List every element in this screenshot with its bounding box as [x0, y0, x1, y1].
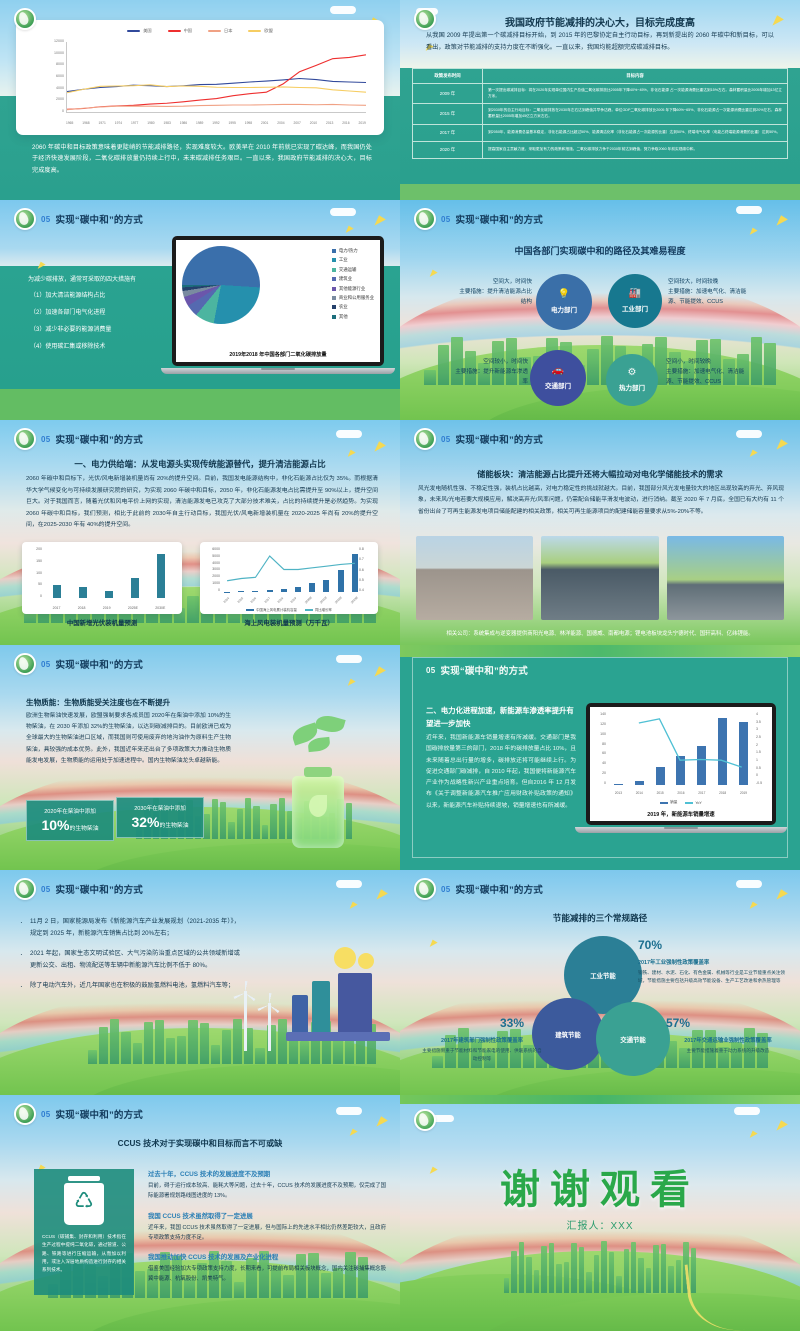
list-item: 2021 年起，国家生态文明试验区、大气污染防治重点区域的公共领域新增或更新公交… [20, 948, 240, 973]
building-shape [177, 1036, 186, 1063]
slide-header: 05 实现“碳中和”的方式 [414, 878, 543, 900]
deck-logo-icon [14, 1103, 36, 1125]
factory-icon: 🏭 [629, 289, 641, 299]
biofuel-jar-icon [292, 776, 344, 848]
slide-thumbnail-11[interactable]: 05 实现“碳中和”的方式 CCUS 技术对于实现碳中和目标而言不可或缺 CCU… [0, 1095, 400, 1331]
measures-lead: 为减少碳排放，通常可采取的四大措施有 [28, 274, 168, 283]
y-tick: 0 [40, 594, 42, 598]
slide-header [14, 8, 36, 30]
paper-plane-icon [373, 1114, 388, 1126]
pct-body-industry: 钢铁、建材、水泥、石化、有色金属、机械等行业是工业节能重点关注领域，节能措施主要… [638, 969, 786, 985]
legend-swatch [246, 609, 254, 611]
gear-icon: ⚙ [628, 368, 637, 378]
deck-logo-icon [414, 878, 436, 900]
cloud-shape [736, 206, 762, 214]
y-tick: 100 [36, 571, 42, 575]
x-tick: 2030E [155, 606, 165, 610]
cloud-shape [734, 1107, 760, 1115]
x-tick: 2001 [261, 121, 268, 125]
energy-glow-icon [334, 947, 356, 969]
x-tick: 2017 [698, 791, 705, 795]
slide-paragraph: 2060 年碳中和目标政策意味着更陡峭的节能减排路径，实现难度较大。欧美早在 2… [32, 142, 372, 176]
building-shape [638, 1258, 643, 1293]
x-tick: 2015 [657, 791, 664, 795]
section-number: 05 [41, 660, 51, 669]
city-skyline [504, 1241, 696, 1293]
pie-chart-panel: 电力/热力工业交通运输建筑业其他能源行业商业和公用服务业农业其他 2019年20… [176, 240, 380, 362]
x-tick: 2023E [350, 596, 359, 605]
building-shape [587, 349, 599, 385]
building-shape [609, 1252, 614, 1293]
measure-item: （3）减少非必要的能源消费量 [28, 324, 168, 333]
paper-plane-icon [347, 1127, 357, 1136]
legend-label: 其他能源行业 [339, 286, 365, 292]
list-item: 除了电动汽车外，近几年国家也在积极的鼓励氢燃料电池，氢燃料汽车等； [20, 980, 240, 992]
section-number: 05 [41, 1110, 51, 1119]
x-tick: 2016 [250, 596, 258, 604]
offshore-wind-chart-card: 6000500040003000200010000 0.80.70.60.50.… [200, 542, 378, 614]
paper-plane-icon [773, 213, 788, 225]
node-label: 交通部门 [545, 380, 571, 390]
x-axis-labels: 1965196819711974197719801983198619891992… [66, 121, 366, 125]
note-industry: 空间较大，时间较晚 主要措施：加速电气化、清洁能源、节能提效、CCUS [668, 278, 756, 307]
x-axis-labels: 2013201420152016201720182019 [608, 791, 754, 795]
solar-capacity-chart-card: 200150100500 2017201820192025E2030E [22, 542, 182, 614]
y-tick: 120 [600, 722, 606, 726]
chart-caption-left: 中国新增光伏装机量预测 [22, 618, 182, 627]
x-tick: 2018 [78, 606, 86, 610]
battery-container-farm-photo [416, 536, 533, 620]
cell-year: 2020 年 [413, 141, 483, 158]
x-tick: 2010 [310, 121, 317, 125]
legend-label: YoY [695, 801, 701, 805]
building-shape [631, 1242, 636, 1293]
stat-card-2020: 2020年在柴油中添加 10%的生物柴油 [26, 800, 114, 841]
slide-thumbnail-4[interactable]: 05 实现“碳中和”的方式 中国各部门实现碳中和的路径及其难易程度 💡 电力部门… [400, 200, 800, 420]
building-shape [200, 1023, 209, 1063]
slide-title: 中国各部门实现碳中和的路径及其难易程度 [400, 244, 800, 257]
section-number: 05 [441, 885, 451, 894]
y2-tick: -0.5 [756, 781, 762, 785]
power-plant-icon [292, 995, 308, 1033]
energy-plant-illustration [230, 941, 390, 1051]
cell-year: 2015 年 [413, 104, 483, 124]
legend-item: 同比增长率 [305, 607, 332, 612]
slide-thumbnail-6[interactable]: 05 实现“碳中和”的方式 储能板块：清洁能源占比提升还将大幅拉动对电化学储能技… [400, 420, 800, 645]
section-body: 借鉴美国经验加大专项政策支持力度，长期来看，可提前布局相关板块概念，国内关注碳捕… [148, 1264, 386, 1285]
section-title: 实现“碳中和”的方式 [56, 432, 144, 446]
line-series [227, 556, 355, 581]
section-body: 目前，碍于运行成本较高、能耗大等问题，过去十年，CCUS 技术的发展进度不及预期… [148, 1181, 386, 1202]
pct-transport: 57% [666, 1016, 690, 1030]
paper-plane-icon [343, 224, 353, 233]
related-companies-note: 相关公司：系统集成与逆变器提供商阳光电源、林洋能源、国德威、南都电源；锂电池板块… [408, 629, 792, 637]
note-power: 空间大，时间快 主要措施：提升清洁能源占比结构 [458, 278, 532, 307]
x-tick: 1968 [82, 121, 89, 125]
x-tick: 2017 [53, 606, 61, 610]
deck-logo-icon [414, 208, 436, 230]
slide-header [414, 8, 436, 30]
x-tick: 2015 [236, 596, 244, 604]
x-tick: 1983 [164, 121, 171, 125]
y-axis-labels: 200150100500 [25, 547, 42, 598]
laptop-mockup: 电力/热力工业交通运输建筑业其他能源行业商业和公用服务业农业其他 2019年20… [172, 236, 384, 374]
biomass-illustration [258, 704, 378, 854]
laptop-base [575, 827, 787, 833]
building-shape [586, 1272, 591, 1294]
cell-content: 到2030年的自主行动目标：二氧化碳排放在2030年左右达到峰值并早争达峰。单位… [483, 104, 788, 124]
y2-tick: 0 [756, 773, 758, 777]
y-tick: 40 [602, 761, 606, 765]
node-label: 电力部门 [551, 304, 577, 314]
photo-row [416, 536, 784, 620]
y-tick: 6000 [212, 547, 220, 551]
paper-plane-icon [427, 268, 437, 277]
cell-year: 2017 年 [413, 124, 483, 141]
cell-content: 提高国家自主贡献力度，采取更加有力的政策和措施。二氧化碳排放力争于2030年前达… [483, 141, 788, 158]
blob-transport[interactable]: 交通节能 [596, 1002, 670, 1076]
y-tick: 200 [36, 547, 42, 551]
measure-item: （2）加速各部门电气化进程 [28, 307, 168, 316]
pct-head-building: 2017年建筑部门强制性政策覆盖率 [420, 1036, 544, 1044]
legend-swatch [332, 268, 336, 272]
y-tick: 2000 [212, 574, 220, 578]
legend-item: 农业 [332, 304, 374, 310]
measure-item: （4）使用碳汇集或移除技术 [28, 341, 168, 350]
thanks-title: 谢谢观看 [400, 1157, 800, 1215]
legend-item: 其他能源行业 [332, 286, 374, 292]
slide-header: 05 实现“碳中和”的方式 [14, 208, 143, 230]
cloud-shape [336, 880, 362, 888]
legend-swatch [660, 802, 668, 804]
x-tick: 2014 [636, 791, 643, 795]
building-shape [541, 1246, 546, 1293]
slide-lead-text: 从我国 2009 年提出第一个碳减排目标开始，到 2015 年的巴黎协定自主行动… [426, 30, 774, 54]
slide-thumbnail-2[interactable]: 我国政府节能减排的决心大，目标完成度高 从我国 2009 年提出第一个碳减排目标… [400, 0, 800, 200]
section-heading: 过去十年，CCUS 技术的发展进度不及预期 [148, 1169, 386, 1178]
legend-item: 交通运输 [332, 267, 374, 273]
note-body: 主要措施：提升新能源车渗透率 [452, 368, 528, 388]
ccus-sections: 过去十年，CCUS 技术的发展进度不及预期目前，碍于运行成本较高、能耗大等问题，… [148, 1169, 386, 1294]
bar [79, 587, 87, 598]
cell-year: 2009 年 [413, 84, 483, 104]
building-shape [121, 1032, 130, 1064]
x-tick: 2016 [342, 121, 349, 125]
emissions-line-chart: 美国 中国 日本 欧盟 1200010000 80006000 40002000… [26, 27, 374, 129]
chart-legend: 美国 中国 日本 欧盟 [26, 27, 374, 34]
building-shape [653, 1245, 658, 1293]
note-head: 空间较大，时间较晚 [668, 278, 756, 288]
x-tick: 2019 [103, 606, 111, 610]
deck-logo-icon [14, 428, 36, 450]
legend-swatch [332, 315, 336, 319]
x-tick: 2013 [615, 791, 622, 795]
slide-title: 二、电力化进程加速，新能源车渗透率提升有望进一步加快 [426, 705, 576, 731]
slide-header: 05 实现“碳中和”的方式 [426, 663, 528, 677]
line-series [67, 85, 366, 93]
cloud-shape [336, 1107, 362, 1115]
y-axis-labels: 140120100806040200 [592, 712, 606, 785]
x-tick: 2021E [319, 596, 328, 605]
x-tick: 2019 [290, 596, 298, 604]
legend-label: 工业 [339, 257, 348, 263]
building-shape [237, 809, 243, 839]
power-plant-icon [338, 973, 372, 1033]
solar-wind-hybrid-photo [667, 536, 784, 620]
deck-logo-icon [414, 428, 436, 450]
cloud-shape [330, 6, 356, 14]
building-shape [731, 1042, 742, 1068]
stat-caption: 2030年在柴油中添加 [123, 804, 197, 812]
building-shape [228, 822, 234, 839]
legend-item: 中国 [168, 28, 192, 34]
paper-plane-icon [373, 887, 388, 899]
bar [105, 591, 113, 598]
paper-plane-icon [747, 226, 757, 235]
top-decoration-bar [400, 645, 800, 657]
y2-tick: 3.5 [756, 720, 761, 724]
paper-plane-icon [773, 437, 788, 449]
presenter-line: 汇报人：XXX [400, 1217, 800, 1232]
y-tick: 4000 [212, 561, 220, 565]
paper-plane-icon [747, 1129, 757, 1138]
slide-thumbnail-3[interactable]: 05 实现“碳中和”的方式 为减少碳排放，通常可采取的四大措施有 （1）加大清洁… [0, 200, 400, 420]
y-tick: 60 [602, 751, 606, 755]
cloud-shape [336, 430, 362, 438]
building-shape [594, 1255, 599, 1293]
building-shape [504, 1278, 509, 1294]
slide-thumbnail-7[interactable]: 05 实现“碳中和”的方式 生物质能：生物质能受关注度也在不断提升 欧洲生物柴油… [0, 645, 400, 870]
x-tick: 2025E [128, 606, 138, 610]
node-transport-sector[interactable]: 🚗 交通部门 [530, 350, 586, 406]
slide-header: 05 实现“碳中和”的方式 [14, 428, 143, 450]
deck-logo-icon [14, 653, 36, 675]
slide-title: 一、电力供给端：从发电源头实现传统能源替代，提升清洁能源占比 [0, 458, 400, 470]
x-tick: 2004 [277, 121, 284, 125]
building-shape [564, 1262, 569, 1293]
legend-label: 农业 [339, 304, 348, 310]
legend-item: YoY [685, 800, 701, 805]
section-body: 近年来，我国 CCUS 技术虽然取得了一定进展，但与国际上的先进水平相比仍然差距… [148, 1223, 386, 1244]
measure-item: （1）加大清洁能源结构占比 [28, 290, 168, 299]
slide-thumbnail-1[interactable]: 美国 中国 日本 欧盟 1200010000 80006000 40002000… [0, 0, 400, 200]
x-tick: 2018 [276, 596, 284, 604]
slide-body: 风光发电随机性强、不稳定性强，装机占比越高，对电力稳定性的挑战就越大。目前，我国… [418, 484, 784, 518]
legend-item: 工业 [332, 257, 374, 263]
legend-item: 建筑业 [332, 276, 374, 282]
chart-caption-right: 海上风电装机量预测（万千瓦） [200, 618, 378, 627]
paper-plane-icon [345, 677, 355, 686]
slide-thumbnail-5[interactable]: 05 实现“碳中和”的方式 一、电力供给端：从发电源头实现传统能源替代，提升清洁… [0, 420, 400, 645]
cloud-shape [330, 208, 356, 216]
section-number: 05 [41, 435, 51, 444]
energy-storage-building-photo [541, 536, 658, 620]
paper-plane-icon [371, 213, 386, 225]
legend-item: 美国 [127, 28, 151, 34]
paper-plane-icon [347, 900, 357, 909]
slide-thumbnail-9[interactable]: 05 实现“碳中和”的方式 11月 2 日，国家能源局发布《新能源汽车产业发展规… [0, 870, 400, 1095]
blob-label: 工业节能 [590, 971, 616, 980]
pct-industry: 70% [638, 938, 662, 952]
line-series [67, 79, 366, 92]
x-tick: 2014 [223, 596, 231, 604]
x-tick: 1995 [229, 121, 236, 125]
bulb-icon: 💡 [558, 290, 570, 300]
section-title: 实现“碳中和”的方式 [456, 882, 544, 896]
legend-label: 同比增长率 [315, 607, 332, 612]
blob-label: 交通节能 [620, 1035, 646, 1044]
bar-series [44, 550, 174, 598]
x-tick: 1974 [115, 121, 122, 125]
deck-logo-icon [14, 208, 36, 230]
slide-header: 05 实现“碳中和”的方式 [414, 428, 543, 450]
y-tick: 5000 [212, 554, 220, 558]
bar [635, 781, 644, 785]
pct-body-transport: 主要节能措施着重于动力系统的升级改造 [664, 1047, 792, 1055]
building-shape [549, 1243, 554, 1293]
cloud-shape [736, 880, 762, 888]
slide-header: 05 实现“碳中和”的方式 [14, 878, 143, 900]
section-title: 实现“碳中和”的方式 [441, 663, 529, 677]
y-axis-labels: 6000500040003000200010000 [203, 547, 220, 592]
legend-item: 日本 [208, 28, 232, 34]
section-title: 实现“碳中和”的方式 [456, 212, 544, 226]
table-row: 2017 年到2050年，能源消费总量基本稳定，非化石能源占比超过50%、能源清… [413, 124, 788, 141]
section-title: 实现“碳中和”的方式 [56, 882, 144, 896]
building-shape [556, 1264, 561, 1293]
leaf-icon [309, 795, 327, 817]
energy-glow-icon [358, 953, 374, 969]
column-header-content: 目标内容 [483, 69, 788, 84]
wind-turbine-icon [244, 991, 247, 1051]
note-body: 主要措施：加速电气化、清洁能源、节能提效、CCUS [668, 288, 756, 308]
node-heat-sector[interactable]: ⚙ 热力部门 [606, 354, 658, 406]
legend-swatch [685, 802, 693, 804]
slide-thumbnail-8[interactable]: 05 实现“碳中和”的方式 二、电力化进程加速，新能源车渗透率提升有望进一步加快… [400, 645, 800, 870]
y-tick: 3000 [212, 567, 220, 571]
x-tick: 1965 [66, 121, 73, 125]
legend-label: 销量 [670, 800, 677, 805]
slide-header: 05 实现“碳中和”的方式 [414, 208, 543, 230]
slide-thumbnail-grid: 美国 中国 日本 欧盟 1200010000 80006000 40002000… [0, 0, 800, 1331]
legend-item: 电力/热力 [332, 248, 374, 254]
note-heat: 空间小，时间较晚 主要措施：加速电气化、清洁能源、节能提效、CCUS [666, 358, 754, 387]
y2-tick: 4 [756, 712, 758, 716]
stat-value: 10%的生物柴油 [33, 817, 107, 833]
y-axis-labels: 1200010000 80006000 40002000 0 [40, 39, 64, 113]
y2-tick: 1 [756, 758, 758, 762]
note-head: 空间小，时间较晚 [666, 358, 754, 368]
section-number: 05 [441, 215, 451, 224]
policy-bullet-list: 11月 2 日，国家能源局发布《新能源汽车产业发展规划（2021-2035 年）… [20, 916, 240, 999]
x-tick: 1998 [245, 121, 252, 125]
x-axis-labels: 2014201520162017201820192020E2021E2022E2… [220, 598, 362, 602]
cell-content: 到2050年，能源消费总量基本稳定，非化石能源占比超过50%、能源清洁化率（非化… [483, 124, 788, 141]
building-shape [526, 1257, 531, 1294]
measures-list: 为减少碳排放，通常可采取的四大措施有 （1）加大清洁能源结构占比 （2）加速各部… [28, 274, 168, 358]
building-shape [601, 1241, 606, 1293]
stat-card-2030: 2030年在柴油中添加 32%的生物柴油 [116, 797, 204, 838]
x-axis-labels: 2017201820192025E2030E [44, 606, 174, 610]
legend-item: 销量 [660, 800, 677, 805]
slide-body: 近年来，我国新能源车销量增速有所减缓。交通部门是我国碳排放量第三的部门，2018… [426, 733, 576, 812]
building-shape [212, 799, 218, 838]
node-power-sector[interactable]: 💡 电力部门 [536, 274, 592, 330]
building-shape [579, 1247, 584, 1293]
emissions-pie-chart [182, 246, 260, 324]
x-tick: 1980 [147, 121, 154, 125]
legend-swatch [332, 258, 336, 262]
paper-plane-icon [345, 448, 355, 457]
paper-plane-icon [747, 900, 757, 909]
building-shape [438, 345, 450, 385]
x-tick: 2022E [334, 596, 343, 605]
list-item: 11月 2 日，国家能源局发布《新能源汽车产业发展规划（2021-2035 年）… [20, 916, 240, 941]
legend-label: 中国海上风电累计装机容量 [256, 607, 297, 612]
policy-table: 政策发布时间 目标内容 2009 年第一次提出碳减排目标：将在2020年实现单位… [412, 68, 788, 159]
laptop-screen: 电力/热力工业交通运输建筑业其他能源行业商业和公用服务业农业其他 2019年20… [172, 236, 384, 366]
slide-title: 我国政府节能减排的决心大，目标完成度高 [400, 14, 800, 29]
note-body: 主要措施：加速电气化、清洁能源、节能提效、CCUS [666, 368, 754, 388]
building-shape [424, 370, 436, 385]
power-plant-icon [312, 981, 330, 1033]
slide-header: 05 实现“碳中和”的方式 [14, 1103, 143, 1125]
line-series-svg [67, 42, 366, 112]
node-label: 热力部门 [619, 382, 645, 392]
laptop-base [161, 368, 395, 374]
legend-swatch [305, 609, 313, 611]
ccus-definition-card: CCUS（碳捕集、封存和利用）技术指在生产过程中提纯二氧化碳，通过管道、公路、铁… [34, 1169, 134, 1295]
section-number: 05 [441, 435, 451, 444]
wind-turbine-icon [268, 1003, 271, 1051]
paper-plane-icon [371, 439, 386, 451]
x-tick: 2007 [294, 121, 301, 125]
node-industry-sector[interactable]: 🏭 工业部门 [608, 274, 662, 328]
section-title: 实现“碳中和”的方式 [56, 1107, 144, 1121]
building-shape [220, 802, 226, 838]
slide-thumbnail-12[interactable]: 谢谢观看 汇报人：XXX [400, 1095, 800, 1331]
cloud-shape [736, 430, 762, 438]
y2-tick: 1.5 [756, 750, 761, 754]
legend-swatch [332, 287, 336, 291]
line-series [67, 55, 366, 110]
bar [614, 784, 623, 785]
section-title: 实现“碳中和”的方式 [56, 212, 144, 226]
section-title: 实现“碳中和”的方式 [56, 657, 144, 671]
y-tick: 140 [600, 712, 606, 716]
chart-card: 美国 中国 日本 欧盟 1200010000 80006000 40002000… [16, 20, 384, 135]
legend-swatch [332, 296, 336, 300]
x-tick: 2016 [677, 791, 684, 795]
y-tick: 100 [600, 732, 606, 736]
legend-swatch [332, 277, 336, 281]
building-shape [110, 1019, 119, 1064]
legend-label: 其他 [339, 314, 348, 320]
growth-rate-line [220, 547, 362, 592]
building-shape [144, 1022, 153, 1063]
recycle-bin-icon [64, 1183, 104, 1225]
pie-chart-caption: 2019年2018 年中国各部门二氧化碳排放量 [176, 351, 380, 358]
pct-head-industry: 2017年工业强制性政策覆盖率 [638, 958, 788, 966]
table-row: 2009 年第一次提出碳减排目标：将在2020年实现单位国内生产总值二氧化碳排放… [413, 84, 788, 104]
building-shape [668, 1266, 673, 1294]
legend-swatch [332, 305, 336, 309]
building-shape [188, 1020, 197, 1064]
building-shape [764, 343, 776, 385]
building-shape [676, 1260, 681, 1293]
pct-head-transport: 2017年交通运输业强制性政策覆盖率 [664, 1036, 792, 1044]
slide-thumbnail-10[interactable]: 05 实现“碳中和”的方式 节能减排的三个常规路径 工业节能 建筑节能 交通节能… [400, 870, 800, 1095]
